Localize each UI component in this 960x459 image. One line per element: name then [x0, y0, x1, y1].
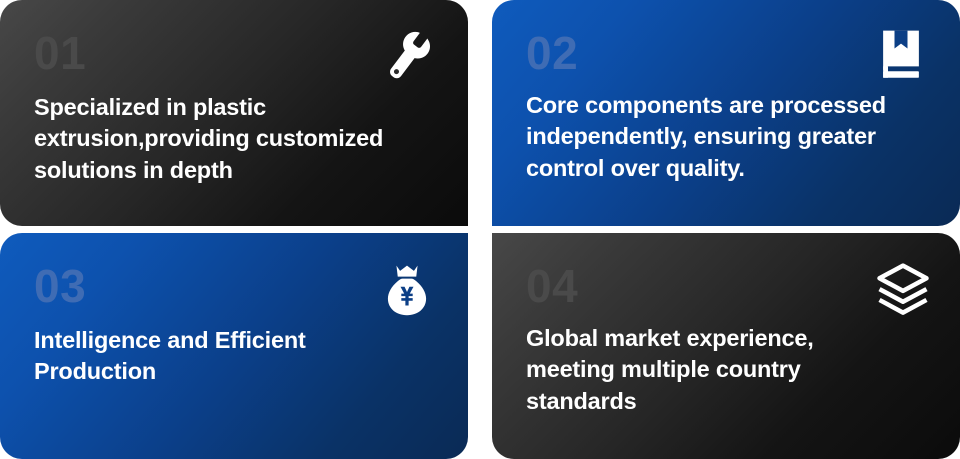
card-number-04: 04	[526, 263, 930, 309]
feature-card-04[interactable]: 04 Global market experience, meeting mul…	[492, 233, 960, 459]
card-number-02: 02	[526, 30, 930, 76]
feature-card-grid: 01 Specialized in plastic extrusion,prov…	[0, 0, 960, 459]
card-text-04: Global market experience, meeting multip…	[526, 323, 930, 417]
card-text-02: Core components are processed independen…	[526, 90, 930, 184]
feature-card-03[interactable]: 03 Intelligence and Efficient Production	[0, 233, 468, 459]
card-number-01: 01	[34, 30, 438, 76]
feature-card-01[interactable]: 01 Specialized in plastic extrusion,prov…	[0, 0, 468, 226]
card-text-03: Intelligence and Efficient Production	[34, 325, 438, 388]
card-number-03: 03	[34, 263, 438, 309]
feature-card-02[interactable]: 02 Core components are processed indepen…	[492, 0, 960, 226]
card-text-01: Specialized in plastic extrusion,providi…	[34, 92, 438, 186]
